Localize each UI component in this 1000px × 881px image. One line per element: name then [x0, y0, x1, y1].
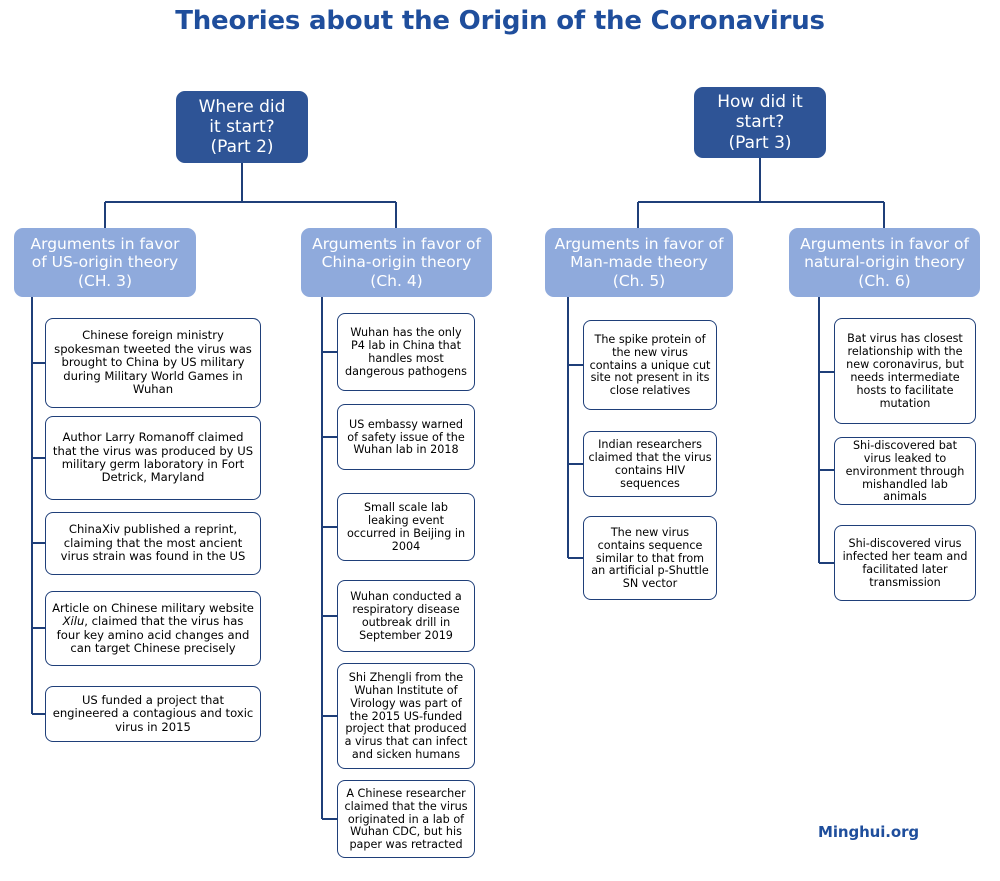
leaf-box-china-origin-2[interactable]: US embassy warned of safety issue of the… — [337, 404, 475, 470]
footer-brand: Minghui.org — [818, 823, 919, 841]
leaf-box-natural-origin-2[interactable]: Shi-discovered bat virus leaked to envir… — [834, 437, 976, 505]
leaf-box-china-origin-4[interactable]: Wuhan conducted a respiratory disease ou… — [337, 580, 475, 652]
leaf-box-man-made-1[interactable]: The spike protein of the new virus conta… — [583, 320, 717, 410]
leaf-box-us-origin-3[interactable]: ChinaXiv published a reprint, claiming t… — [45, 512, 261, 575]
page-title: Theories about the Origin of the Coronav… — [0, 6, 1000, 36]
leaf-box-natural-origin-1[interactable]: Bat virus has closest relationship with … — [834, 318, 976, 424]
leaf-box-us-origin-1[interactable]: Chinese foreign ministry spokesman tweet… — [45, 318, 261, 408]
leaf-box-us-origin-2[interactable]: Author Larry Romanoff claimed that the v… — [45, 416, 261, 500]
leaf-box-us-origin-5[interactable]: US funded a project that engineered a co… — [45, 686, 261, 742]
leaf-box-china-origin-6[interactable]: A Chinese researcher claimed that the vi… — [337, 780, 475, 858]
category-box-china-origin[interactable]: Arguments in favor of China-origin theor… — [301, 228, 492, 297]
leaf-text-part-pre: Article on Chinese military website — [52, 601, 254, 615]
root-box-how-did-it-start[interactable]: How did it start? (Part 3) — [694, 87, 826, 158]
diagram-canvas: Theories about the Origin of the Coronav… — [0, 0, 1000, 881]
leaf-box-china-origin-5[interactable]: Shi Zhengli from the Wuhan Institute of … — [337, 663, 475, 769]
category-box-natural-origin[interactable]: Arguments in favor of natural-origin the… — [789, 228, 980, 297]
leaf-text-us-origin-4: Article on Chinese military website Xilu… — [50, 602, 256, 656]
leaf-box-us-origin-4[interactable]: Article on Chinese military website Xilu… — [45, 591, 261, 666]
category-box-us-origin[interactable]: Arguments in favor of US-origin theory (… — [14, 228, 196, 297]
root-box-where-did-it-start[interactable]: Where did it start? (Part 2) — [176, 91, 308, 163]
category-box-man-made[interactable]: Arguments in favor of Man-made theory (C… — [545, 228, 733, 297]
leaf-box-man-made-3[interactable]: The new virus contains sequence similar … — [583, 516, 717, 600]
leaf-text-part-italic: Xilu — [63, 614, 85, 628]
leaf-box-natural-origin-3[interactable]: Shi-discovered virus infected her team a… — [834, 525, 976, 601]
leaf-box-china-origin-1[interactable]: Wuhan has the only P4 lab in China that … — [337, 313, 475, 391]
leaf-box-man-made-2[interactable]: Indian researchers claimed that the viru… — [583, 431, 717, 497]
leaf-text-part-post: , claimed that the virus has four key am… — [57, 614, 250, 655]
leaf-box-china-origin-3[interactable]: Small scale lab leaking event occurred i… — [337, 493, 475, 561]
